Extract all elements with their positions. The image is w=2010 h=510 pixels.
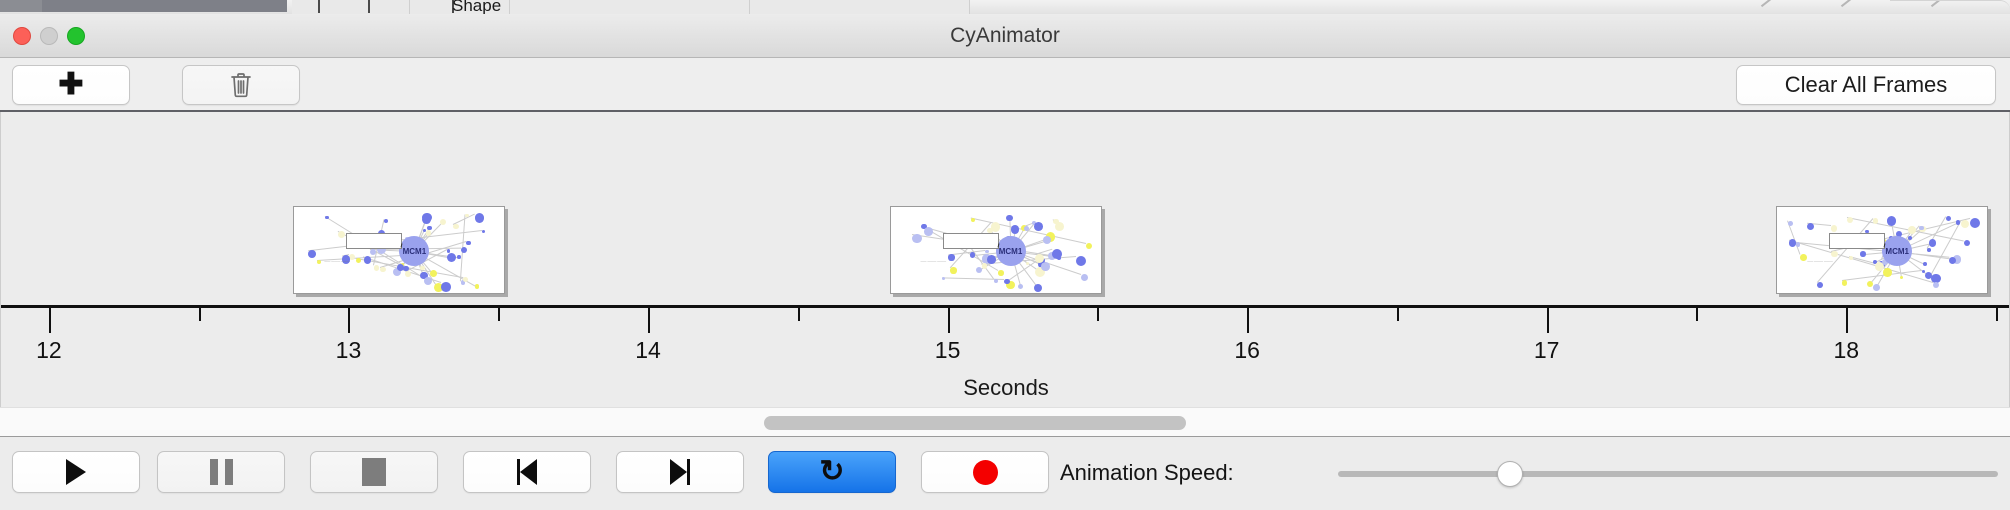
axis-tick-label: 16 <box>1234 337 1260 364</box>
network-node <box>1922 270 1925 273</box>
play-button[interactable] <box>12 451 140 493</box>
network-node <box>482 230 486 234</box>
network-node <box>420 266 425 271</box>
network-node <box>1887 216 1897 226</box>
timeline-frame[interactable]: MCM1—— ——— ——— <box>1776 206 1988 294</box>
network-node <box>466 241 470 245</box>
network-node <box>1842 280 1848 286</box>
background-tick <box>368 0 370 13</box>
network-node <box>998 270 1004 276</box>
network-node <box>374 265 379 270</box>
network-node <box>1927 248 1931 252</box>
background-app-label: Shape <box>452 0 501 14</box>
timeline-frame[interactable]: MCM1—— ——— ——— <box>890 206 1102 294</box>
network-hub-node: MCM1 <box>996 236 1026 266</box>
network-node <box>950 267 956 273</box>
network-node <box>1908 236 1912 240</box>
skip-previous-button[interactable] <box>463 451 591 493</box>
network-node <box>985 250 989 254</box>
frame-network-thumbnail: MCM1—— ——— ——— <box>1777 207 1987 293</box>
axis-tick-minor <box>498 308 500 321</box>
axis-tick-label: 15 <box>935 337 961 364</box>
axis-tick-minor <box>199 308 201 321</box>
background-dark-chunk-2 <box>42 0 287 12</box>
axis-tick-major <box>1846 308 1848 333</box>
background-chunk <box>292 0 410 14</box>
background-slash <box>1761 0 1773 7</box>
network-node <box>1923 262 1927 266</box>
network-annotation-text: —— ——— ——— <box>921 259 947 263</box>
network-hub-node: MCM1 <box>1882 236 1912 266</box>
network-node <box>1788 221 1793 226</box>
record-button[interactable] <box>921 451 1049 493</box>
loop-icon: ↻ <box>819 457 844 487</box>
scrollbar-thumb[interactable] <box>764 416 1186 430</box>
timeline-panel[interactable]: MCM1—— ——— ———MCM1—— ——— ———MCM1—— ——— —… <box>0 112 2010 407</box>
network-annotation-box <box>1829 233 1885 249</box>
toolbar: ✚ Clear All Frames <box>0 58 2010 112</box>
network-node <box>1043 236 1051 244</box>
axis-title: Seconds <box>1 375 2010 401</box>
network-node <box>912 234 922 244</box>
frame-network-thumbnail: MCM1—— ——— ——— <box>294 207 504 293</box>
network-node <box>457 255 461 259</box>
network-node <box>1055 222 1064 231</box>
skip-previous-icon <box>517 459 537 485</box>
axis-tick-major <box>49 308 51 333</box>
network-node <box>1796 242 1800 246</box>
network-node <box>1908 226 1916 234</box>
axis-tick-minor <box>798 308 800 321</box>
skip-next-button[interactable] <box>616 451 744 493</box>
network-node <box>308 250 316 258</box>
network-node <box>1883 268 1891 276</box>
network-node <box>461 247 467 253</box>
background-window-corner <box>1890 0 2010 14</box>
network-node <box>1034 222 1043 231</box>
network-node <box>1086 243 1092 249</box>
animation-speed-label: Animation Speed: <box>1060 460 1234 486</box>
skip-next-icon <box>670 459 690 485</box>
network-node <box>1961 220 1969 228</box>
network-node <box>982 263 987 268</box>
network-node <box>994 279 998 283</box>
frame-network-thumbnail: MCM1—— ——— ——— <box>891 207 1101 293</box>
pause-icon <box>210 459 233 485</box>
network-node <box>1057 256 1062 261</box>
network-node <box>1929 239 1936 246</box>
background-desktop-strip: Shape <box>0 0 2010 14</box>
add-frame-button[interactable]: ✚ <box>12 65 130 105</box>
clear-all-frames-label: Clear All Frames <box>1785 72 1948 98</box>
network-node <box>405 271 411 277</box>
axis-tick-label: 14 <box>635 337 661 364</box>
network-node <box>942 277 945 280</box>
network-node <box>475 284 480 289</box>
play-icon <box>66 459 86 485</box>
frames-area[interactable]: MCM1—— ——— ———MCM1—— ——— ———MCM1—— ——— —… <box>1 112 2010 307</box>
network-annotation-box <box>346 233 402 249</box>
background-tick <box>318 0 320 13</box>
network-node <box>1849 256 1853 260</box>
horizontal-scrollbar[interactable] <box>0 407 2010 437</box>
clear-all-frames-button[interactable]: Clear All Frames <box>1736 65 1996 105</box>
background-chunk <box>510 0 750 14</box>
network-node <box>1831 225 1838 232</box>
network-node <box>325 216 328 219</box>
record-icon <box>973 460 998 485</box>
axis-tick-label: 13 <box>336 337 362 364</box>
axis-tick-minor <box>1097 308 1099 321</box>
network-node <box>1900 276 1903 279</box>
network-node <box>1081 274 1088 281</box>
cyanimator-window: Shape CyAnimator ✚ Clear All Frames MCM1… <box>0 0 2010 510</box>
network-node <box>1817 282 1823 288</box>
network-edge <box>1787 221 1800 255</box>
network-annotation-text: —— ——— ——— <box>324 259 350 263</box>
network-node <box>1933 282 1940 289</box>
network-node <box>338 231 345 238</box>
network-node <box>1847 217 1853 223</box>
network-node <box>463 277 468 282</box>
network-node <box>987 255 996 264</box>
loop-button[interactable]: ↻ <box>768 451 896 493</box>
network-node <box>1011 225 1020 234</box>
network-node <box>430 270 437 277</box>
network-node <box>1867 281 1873 287</box>
network-annotation-text: —— ——— ——— <box>1807 259 1833 263</box>
network-node <box>317 260 321 264</box>
network-node <box>380 267 386 273</box>
background-slash <box>1841 0 1853 7</box>
network-node <box>1041 262 1050 271</box>
plus-icon: ✚ <box>58 70 83 100</box>
network-node <box>441 282 451 292</box>
axis-tick-minor <box>1397 308 1399 321</box>
network-node <box>1018 284 1023 289</box>
network-node <box>1873 284 1880 291</box>
network-node <box>991 222 1000 231</box>
transport-bar: ↻ Animation Speed: <box>0 438 2010 510</box>
network-node <box>1006 215 1012 221</box>
stop-button[interactable] <box>310 451 438 493</box>
network-annotation-box <box>943 233 999 249</box>
axis-tick-major <box>648 308 650 333</box>
network-node <box>1860 251 1865 256</box>
axis-tick-major <box>1247 308 1249 333</box>
axis-tick-minor <box>1996 308 1998 321</box>
network-node <box>1831 251 1838 258</box>
network-node <box>1956 220 1960 224</box>
axis-tick-minor <box>1696 308 1698 321</box>
trash-icon <box>229 71 253 99</box>
network-node <box>1964 240 1970 246</box>
network-node <box>475 213 485 223</box>
axis-tick-label: 17 <box>1534 337 1560 364</box>
axis-tick-major <box>348 308 350 333</box>
pause-button[interactable] <box>157 451 285 493</box>
network-node <box>1949 257 1956 264</box>
network-node <box>453 224 458 229</box>
delete-frame-button[interactable] <box>182 65 300 105</box>
timeline-frame[interactable]: MCM1—— ——— ——— <box>293 206 505 294</box>
network-node <box>976 267 982 273</box>
network-node <box>447 253 456 262</box>
network-node <box>364 256 372 264</box>
network-node <box>1076 256 1086 266</box>
network-node <box>1800 254 1807 261</box>
animation-speed-thumb[interactable] <box>1497 461 1523 487</box>
network-node <box>1034 284 1042 292</box>
timeline-axis: 12131415161718 Seconds <box>1 305 2010 407</box>
network-node <box>1004 279 1009 284</box>
axis-tick-major <box>1547 308 1549 333</box>
network-node <box>1919 226 1924 231</box>
axis-tick-label: 18 <box>1833 337 1859 364</box>
background-dark-chunk-1 <box>0 0 42 12</box>
axis-tick-label: 12 <box>36 337 62 364</box>
network-node <box>1970 218 1980 228</box>
title-bar: CyAnimator <box>0 14 2010 58</box>
network-node <box>356 258 361 263</box>
network-node <box>424 277 432 285</box>
network-node <box>349 254 355 260</box>
background-chunk <box>750 0 970 14</box>
network-node <box>427 226 432 231</box>
network-node <box>422 213 431 222</box>
network-node <box>971 218 975 222</box>
axis-tick-major <box>948 308 950 333</box>
animation-speed-slider[interactable] <box>1338 471 1998 477</box>
window-title: CyAnimator <box>0 14 2010 58</box>
network-node <box>440 219 446 225</box>
network-node <box>384 219 388 223</box>
axis-line <box>1 305 2010 308</box>
network-node <box>1946 216 1951 221</box>
stop-icon <box>362 458 386 486</box>
network-node <box>948 254 954 260</box>
network-node <box>1807 223 1814 230</box>
network-node <box>924 227 933 236</box>
network-node <box>1873 218 1878 223</box>
